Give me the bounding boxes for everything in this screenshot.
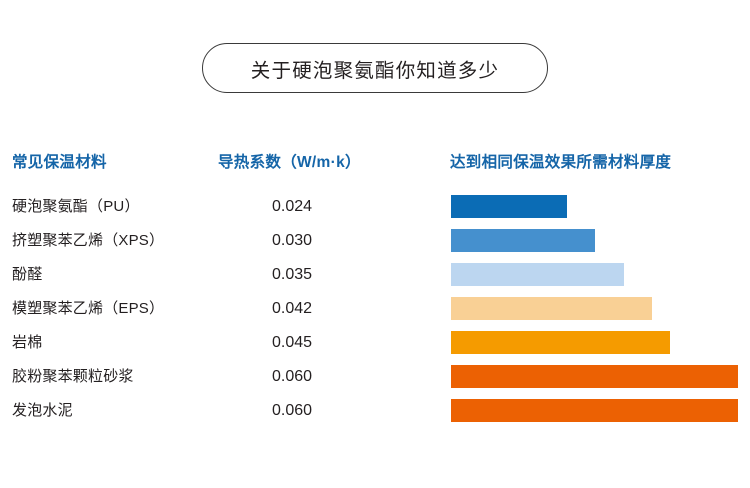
conductivity-value: 0.060 (272, 399, 312, 422)
material-name: 模塑聚苯乙烯（EPS） (12, 297, 164, 320)
table-body: 硬泡聚氨酯（PU）0.024挤塑聚苯乙烯（XPS）0.030酚醛0.035模塑聚… (0, 195, 750, 433)
material-name: 酚醛 (12, 263, 42, 286)
conductivity-value: 0.030 (272, 229, 312, 252)
column-header-thickness: 达到相同保温效果所需材料厚度 (450, 150, 671, 172)
thickness-bar (451, 297, 652, 320)
conductivity-value: 0.035 (272, 263, 312, 286)
table-row: 胶粉聚苯颗粒砂浆0.060 (0, 365, 750, 399)
material-name: 发泡水泥 (12, 399, 73, 422)
material-name: 胶粉聚苯颗粒砂浆 (12, 365, 134, 388)
title-banner: 关于硬泡聚氨酯你知道多少 (202, 43, 548, 93)
page-title: 关于硬泡聚氨酯你知道多少 (251, 54, 499, 83)
material-name: 硬泡聚氨酯（PU） (12, 195, 140, 218)
thickness-bar-track (451, 331, 741, 354)
table-row: 发泡水泥0.060 (0, 399, 750, 433)
table-header-row: 常见保温材料 导热系数（W/m·k） 达到相同保温效果所需材料厚度 (0, 150, 750, 186)
conductivity-value: 0.024 (272, 195, 312, 218)
thickness-bar-track (451, 263, 741, 286)
thickness-bar (451, 365, 738, 388)
thickness-bar-track (451, 195, 741, 218)
conductivity-value: 0.045 (272, 331, 312, 354)
thickness-bar (451, 331, 670, 354)
thickness-bar (451, 195, 567, 218)
table-row: 硬泡聚氨酯（PU）0.024 (0, 195, 750, 229)
thickness-bar (451, 229, 595, 252)
thickness-bar (451, 263, 624, 286)
table-row: 模塑聚苯乙烯（EPS）0.042 (0, 297, 750, 331)
table-row: 酚醛0.035 (0, 263, 750, 297)
insulation-comparison-table: 常见保温材料 导热系数（W/m·k） 达到相同保温效果所需材料厚度 硬泡聚氨酯（… (0, 150, 750, 433)
thickness-bar-track (451, 297, 741, 320)
thickness-bar-track (451, 399, 741, 422)
thickness-bar-track (451, 365, 741, 388)
material-name: 岩棉 (12, 331, 42, 354)
conductivity-value: 0.042 (272, 297, 312, 320)
material-name: 挤塑聚苯乙烯（XPS） (12, 229, 164, 252)
column-header-material: 常见保温材料 (12, 150, 107, 172)
conductivity-value: 0.060 (272, 365, 312, 388)
column-header-conductivity: 导热系数（W/m·k） (218, 150, 361, 172)
table-row: 挤塑聚苯乙烯（XPS）0.030 (0, 229, 750, 263)
thickness-bar (451, 399, 738, 422)
thickness-bar-track (451, 229, 741, 252)
table-row: 岩棉0.045 (0, 331, 750, 365)
